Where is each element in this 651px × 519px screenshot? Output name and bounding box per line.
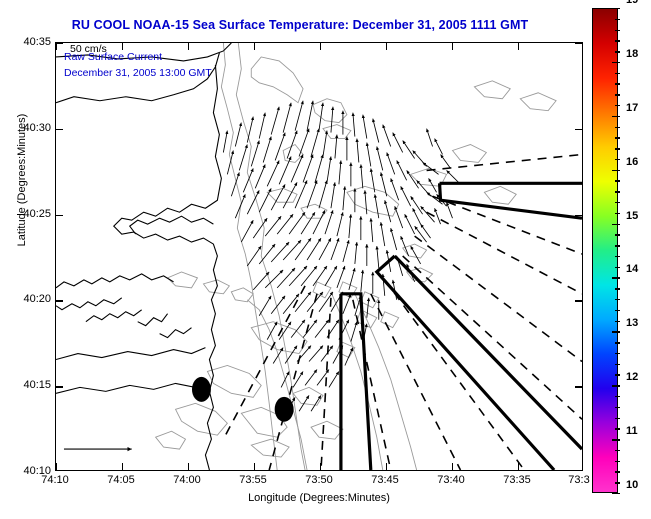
colorbar-tick [612, 116, 620, 117]
colorbar-minor-tick [615, 234, 620, 235]
map-vector-graphics [56, 43, 582, 470]
x-tick-label: 74:05 [107, 474, 135, 486]
colorbar-minor-tick [615, 159, 620, 160]
x-axis-tick [56, 43, 57, 50]
colorbar-tick [612, 277, 620, 278]
colorbar-tick [612, 493, 620, 494]
colorbar-tick-label: 16 [626, 156, 638, 168]
colorbar-tick-label: 19 [626, 0, 638, 6]
y-axis-tick [575, 386, 582, 387]
colorbar-minor-tick [615, 428, 620, 429]
x-axis-tick [452, 43, 453, 50]
colorbar-minor-tick [615, 342, 620, 343]
colorbar-minor-tick [615, 364, 620, 365]
scale-legend-label: 50 cm/s [70, 43, 107, 55]
colorbar-minor-tick [615, 148, 620, 149]
y-axis-tick [56, 300, 63, 301]
y-tick-label: 40:20 [3, 293, 51, 305]
x-axis-tick [518, 463, 519, 470]
colorbar-tick [612, 331, 620, 332]
colorbar-minor-tick [615, 321, 620, 322]
colorbar-tick [612, 62, 620, 63]
colorbar-minor-tick [615, 51, 620, 52]
colorbar-tick-label: 14 [626, 263, 638, 275]
y-axis-label: Latitude (Degrees:Minutes) [16, 90, 28, 270]
map-plot-area[interactable]: Raw Surface Current December 31, 2005 13… [55, 42, 583, 471]
y-axis-tick [56, 215, 63, 216]
colorbar-minor-tick [615, 267, 620, 268]
colorbar-tick-label: 10 [626, 479, 638, 491]
x-axis-tick [518, 43, 519, 50]
x-axis-tick [56, 463, 57, 470]
x-axis-tick [452, 463, 453, 470]
colorbar-tick [612, 224, 620, 225]
colorbar-ticks [592, 8, 618, 493]
colorbar-tick [612, 385, 620, 386]
colorbar-minor-tick [615, 202, 620, 203]
colorbar-tick-label: 15 [626, 210, 638, 222]
colorbar-tick-label: 11 [626, 425, 638, 437]
colorbar-minor-tick [615, 105, 620, 106]
colorbar-tick-label: 13 [626, 317, 638, 329]
colorbar-minor-tick [615, 30, 620, 31]
colorbar-minor-tick [615, 299, 620, 300]
colorbar-minor-tick [615, 461, 620, 462]
y-axis-tick [575, 300, 582, 301]
colorbar-minor-tick [615, 288, 620, 289]
colorbar-minor-tick [615, 73, 620, 74]
colorbar-minor-tick [615, 310, 620, 311]
colorbar-minor-tick [615, 256, 620, 257]
x-axis-tick [122, 463, 123, 470]
x-axis-tick [386, 43, 387, 50]
radar-beam-wedges [341, 183, 582, 470]
colorbar-minor-tick [615, 83, 620, 84]
colorbar-minor-tick [615, 418, 620, 419]
x-tick-label: 74:00 [173, 474, 201, 486]
colorbar-tick-label: 17 [626, 102, 638, 114]
colorbar-minor-tick [615, 213, 620, 214]
sst-map-figure: RU COOL NOAA-15 Sea Surface Temperature:… [0, 0, 651, 519]
colorbar-minor-tick [615, 471, 620, 472]
colorbar-minor-tick [615, 245, 620, 246]
colorbar-tick [612, 170, 620, 171]
x-axis-tick [254, 463, 255, 470]
x-tick-label: 73:35 [503, 474, 531, 486]
x-axis-tick [320, 43, 321, 50]
x-axis-tick [320, 463, 321, 470]
colorbar-minor-tick [615, 180, 620, 181]
x-tick-label: 74:10 [41, 474, 69, 486]
y-tick-label: 40:15 [3, 379, 51, 391]
colorbar-tick-label: 18 [626, 48, 638, 60]
colorbar-minor-tick [615, 374, 620, 375]
colorbar-minor-tick [615, 127, 620, 128]
colorbar-minor-tick [615, 94, 620, 95]
x-axis-tick [188, 43, 189, 50]
colorbar-minor-tick [615, 191, 620, 192]
annotation-line-2: December 31, 2005 13:00 GMT [64, 67, 212, 79]
colorbar-tick-label: 12 [626, 371, 638, 383]
colorbar-tick [612, 8, 620, 9]
y-axis-tick [56, 386, 63, 387]
colorbar-minor-tick [615, 407, 620, 408]
x-axis: 74:10 74:05 74:00 73:55 73:50 73:45 73:4… [55, 474, 583, 494]
x-tick-label: 73:55 [239, 474, 267, 486]
x-tick-label: 73:40 [437, 474, 465, 486]
y-tick-label: 40:35 [3, 36, 51, 48]
x-axis-tick [386, 463, 387, 470]
colorbar-minor-tick [615, 137, 620, 138]
colorbar-minor-tick [615, 40, 620, 41]
colorbar-minor-tick [615, 19, 620, 20]
x-axis-tick [122, 43, 123, 50]
y-axis-tick [56, 129, 63, 130]
colorbar-minor-tick [615, 396, 620, 397]
y-axis-tick [575, 129, 582, 130]
y-axis-tick [575, 43, 582, 44]
x-axis-label: Longitude (Degrees:Minutes) [55, 492, 583, 504]
x-axis-tick [254, 43, 255, 50]
x-tick-label: 73:45 [371, 474, 399, 486]
figure-title: RU COOL NOAA-15 Sea Surface Temperature:… [0, 18, 600, 32]
colorbar-tick [612, 439, 620, 440]
colorbar-minor-tick [615, 482, 620, 483]
x-tick-label: 73:3 [568, 474, 589, 486]
colorbar-minor-tick [615, 450, 620, 451]
colorbar-minor-tick [615, 353, 620, 354]
x-axis-tick [188, 463, 189, 470]
x-tick-label: 73:50 [305, 474, 333, 486]
y-axis-tick [575, 215, 582, 216]
coastline [56, 43, 231, 470]
